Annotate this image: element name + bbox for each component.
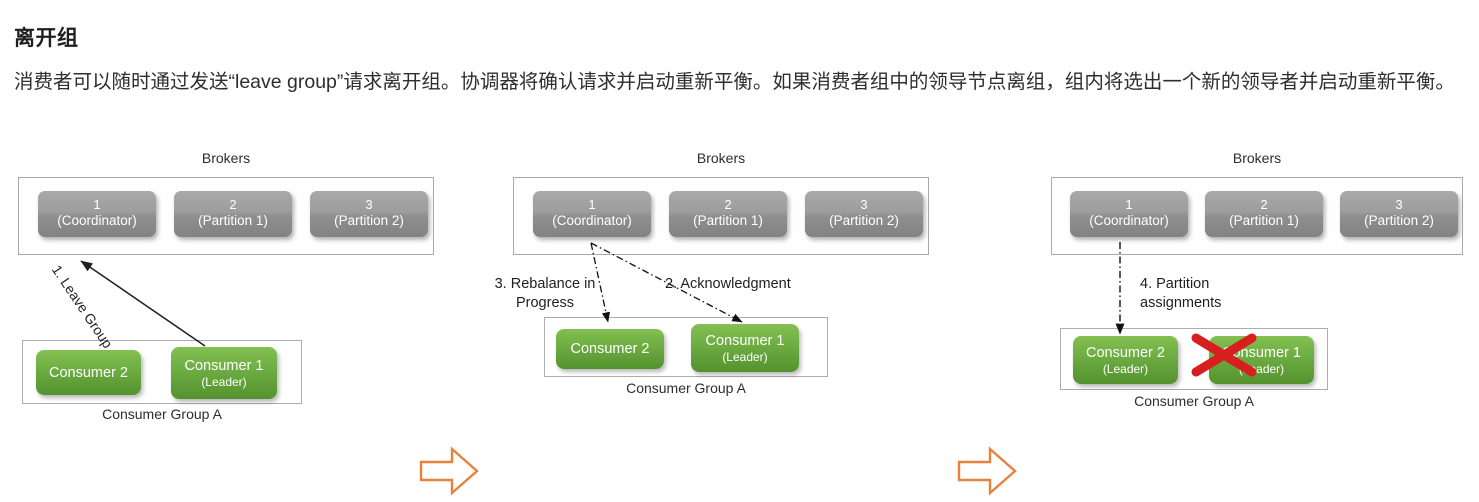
kafka-leave-group-diagram: Brokers 1 (Coordinator) 2 (Partition 1) … (0, 150, 1479, 430)
broker-box-3: 3 (Partition 2) (805, 191, 923, 237)
consumer-group-frame: Consumer 2 Consumer 1 (Leader) (544, 317, 828, 377)
consumer-box-consumer-1: Consumer 1 (Leader) (171, 347, 277, 399)
broker-box-2: 2 (Partition 1) (174, 191, 292, 237)
broker-box-3: 3 (Partition 2) (310, 191, 428, 237)
step-label-4-partition-assignments: 4. Partition assignments (1140, 275, 1221, 313)
diagram-panel-3: Brokers 1 (Coordinator) 2 (Partition 1) … (1020, 150, 1479, 430)
step-label-2-acknowledgment: 2. Acknowledgment (665, 275, 791, 294)
broker-number: 2 (1205, 197, 1323, 213)
brokers-frame: 1 (Coordinator) 2 (Partition 1) 3 (Parti… (1051, 177, 1463, 255)
broker-number: 3 (310, 197, 428, 213)
broker-role: (Coordinator) (533, 213, 651, 229)
brokers-frame: 1 (Coordinator) 2 (Partition 1) 3 (Parti… (18, 177, 434, 255)
step-label-3-rebalance: 3. Rebalance in Progress (485, 275, 605, 313)
consumer-box-consumer-2: Consumer 2 (36, 350, 141, 395)
broker-number: 3 (805, 197, 923, 213)
consumer-box-consumer-1: Consumer 1 (Leader) (1209, 336, 1314, 384)
consumer-box-consumer-1: Consumer 1 (Leader) (691, 324, 799, 372)
broker-box-2: 2 (Partition 1) (669, 191, 787, 237)
broker-box-1: 1 (Coordinator) (1070, 191, 1188, 237)
flow-arrow-2 (956, 445, 1018, 497)
broker-role: (Partition 1) (174, 213, 292, 229)
broker-number: 1 (533, 197, 651, 213)
page-title: 离开组 (14, 22, 79, 52)
brokers-title: Brokers (18, 150, 434, 166)
consumer-name: Consumer 2 (1086, 344, 1165, 362)
consumer-name: Consumer 2 (571, 340, 650, 358)
broker-number: 1 (1070, 197, 1188, 213)
brokers-title: Brokers (1051, 150, 1463, 166)
consumer-role: (Leader) (1239, 362, 1284, 377)
brokers-frame: 1 (Coordinator) 2 (Partition 1) 3 (Parti… (513, 177, 929, 255)
step-label-1-leave-group: 1. Leave Group (49, 262, 116, 351)
consumer-name: Consumer 1 (1222, 344, 1301, 362)
diagram-panel-2: Brokers 1 (Coordinator) 2 (Partition 1) … (480, 150, 940, 430)
intro-paragraph: 消费者可以随时通过发送“leave group”请求离开组。协调器将确认请求并启… (14, 66, 1466, 99)
broker-role: (Coordinator) (1070, 213, 1188, 229)
diagram-panel-1: Brokers 1 (Coordinator) 2 (Partition 1) … (0, 150, 460, 430)
broker-number: 3 (1340, 197, 1458, 213)
consumer-name: Consumer 2 (49, 364, 128, 382)
consumer-group-caption: Consumer Group A (544, 380, 828, 396)
broker-number: 1 (38, 197, 156, 213)
consumer-name: Consumer 1 (706, 332, 785, 350)
consumer-group-caption: Consumer Group A (1060, 393, 1328, 409)
consumer-name: Consumer 1 (185, 357, 264, 375)
consumer-group-caption: Consumer Group A (22, 406, 302, 422)
consumer-role: (Leader) (1103, 362, 1148, 377)
broker-role: (Partition 1) (669, 213, 787, 229)
broker-number: 2 (669, 197, 787, 213)
consumer-group-frame: Consumer 2 (Leader) Consumer 1 (Leader) (1060, 328, 1328, 390)
broker-box-1: 1 (Coordinator) (38, 191, 156, 237)
brokers-title: Brokers (513, 150, 929, 166)
consumer-role: (Leader) (722, 350, 767, 365)
broker-role: (Partition 2) (1340, 213, 1458, 229)
flow-arrow-1 (418, 445, 480, 497)
consumer-role: (Leader) (201, 375, 246, 390)
broker-box-2: 2 (Partition 1) (1205, 191, 1323, 237)
consumer-group-frame: Consumer 2 Consumer 1 (Leader) (22, 340, 302, 404)
broker-role: (Partition 1) (1205, 213, 1323, 229)
broker-role: (Partition 2) (805, 213, 923, 229)
broker-number: 2 (174, 197, 292, 213)
broker-role: (Partition 2) (310, 213, 428, 229)
broker-box-1: 1 (Coordinator) (533, 191, 651, 237)
broker-box-3: 3 (Partition 2) (1340, 191, 1458, 237)
broker-role: (Coordinator) (38, 213, 156, 229)
consumer-box-consumer-2: Consumer 2 (556, 329, 664, 369)
consumer-box-consumer-2: Consumer 2 (Leader) (1073, 336, 1178, 384)
